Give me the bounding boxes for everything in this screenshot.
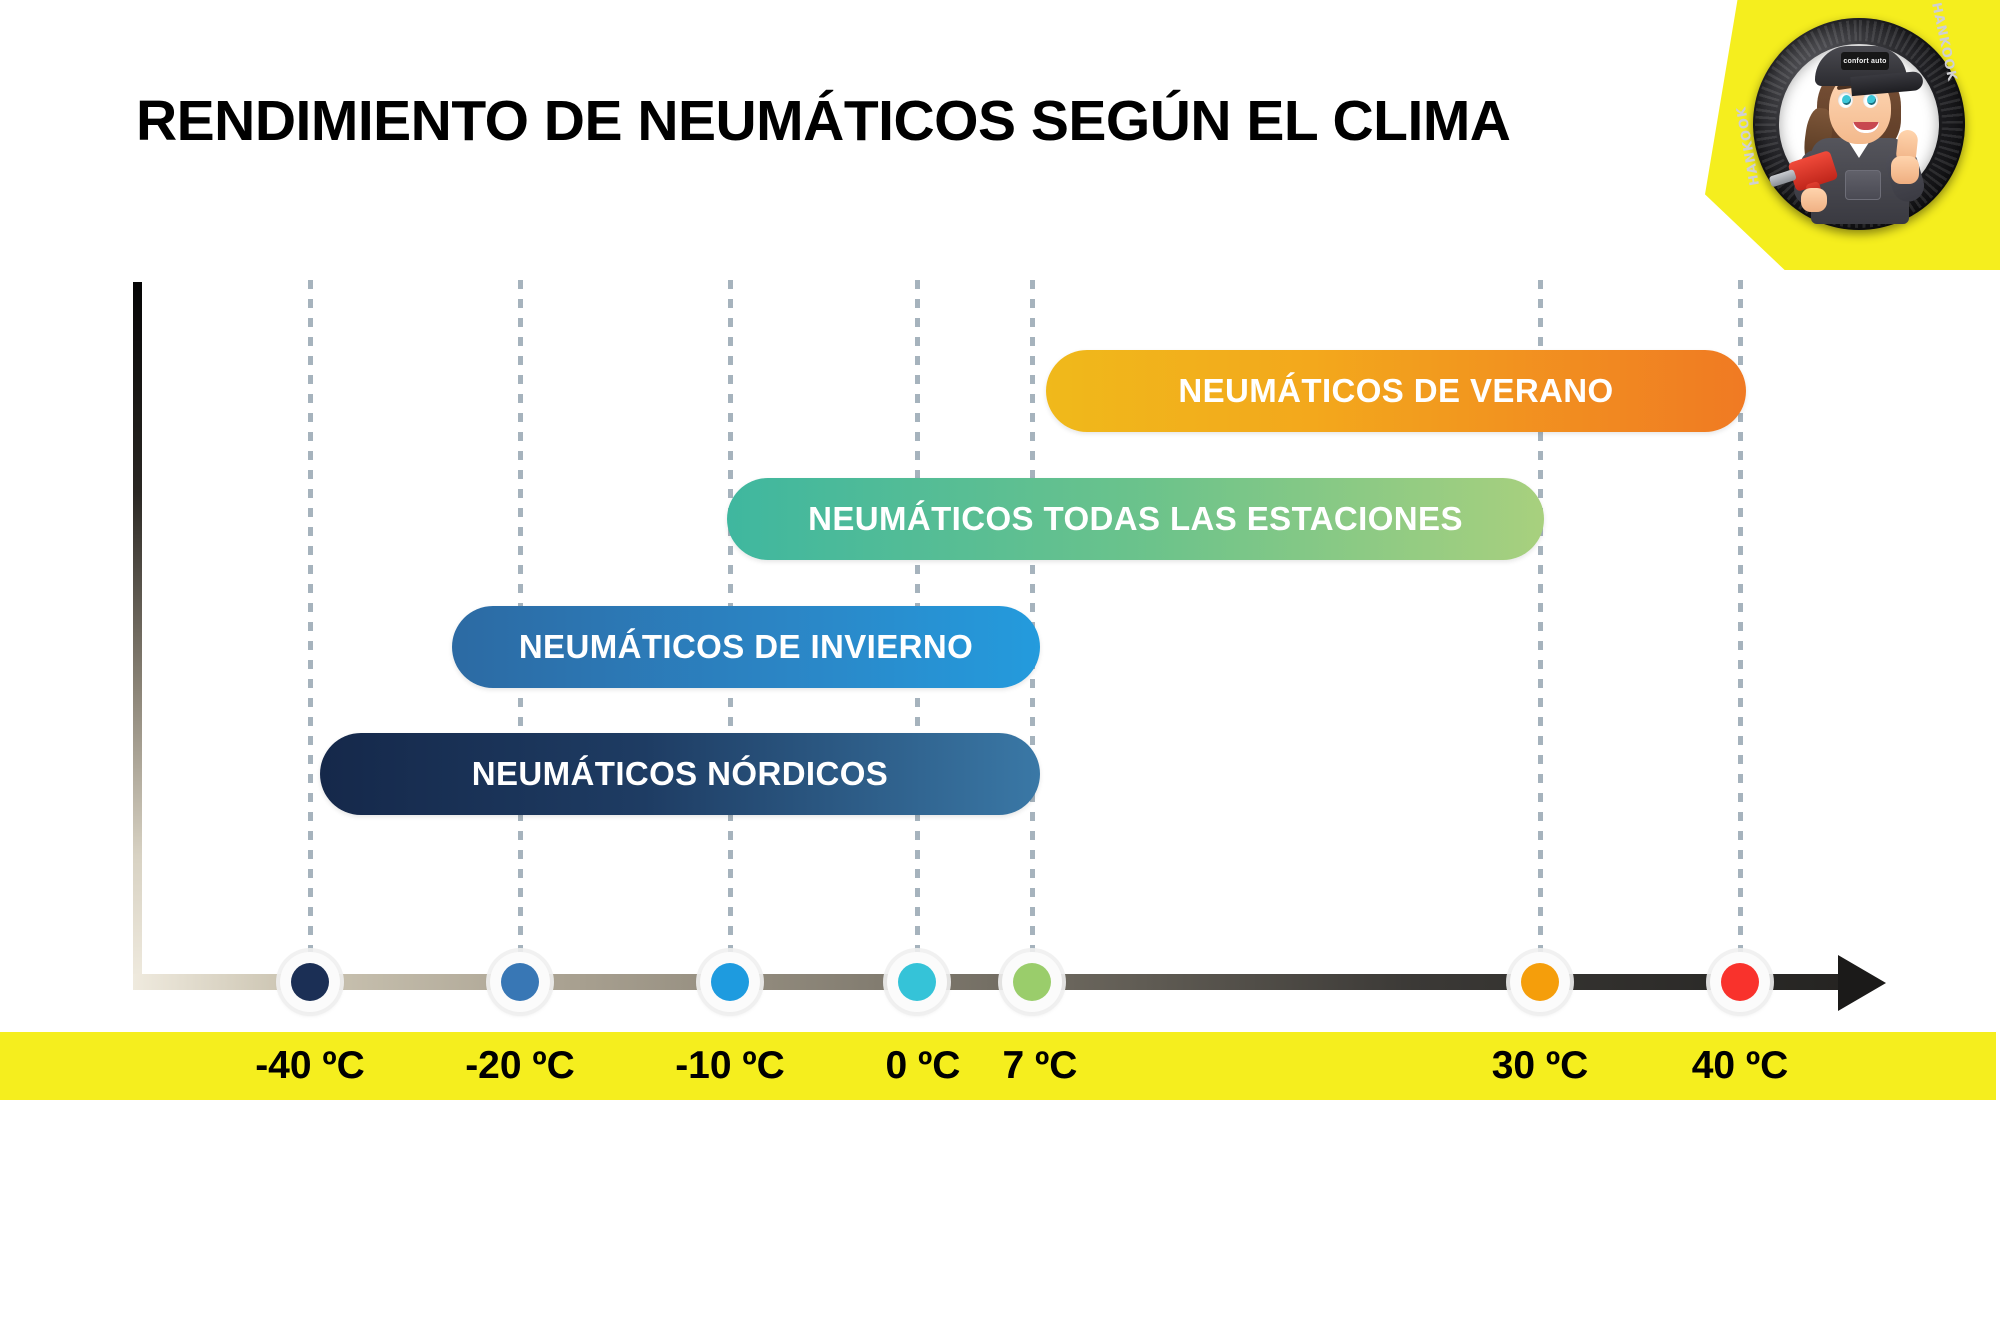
bar-winter-label: NEUMÁTICOS DE INVIERNO	[452, 628, 1040, 666]
axis-dot-thirty[interactable]	[1510, 952, 1570, 1012]
tick-label-zero: 0 ºC	[886, 1038, 961, 1094]
infographic-canvas: RENDIMIENTO DE NEUMÁTICOS SEGÚN EL CLIMA…	[0, 0, 2000, 1333]
x-axis-line	[133, 974, 1863, 990]
tick-label-forty: 40 ºC	[1692, 1038, 1789, 1094]
axis-dot-forty-fill	[1721, 963, 1759, 1001]
right-hand	[1891, 156, 1919, 184]
x-axis-arrow-icon	[1838, 955, 1886, 1011]
tick-label-thirty: 30 ºC	[1492, 1038, 1589, 1094]
cap-logo-badge: confort auto	[1841, 52, 1889, 70]
bar-nordic-label: NEUMÁTICOS NÓRDICOS	[320, 755, 1040, 793]
y-axis-line	[133, 282, 142, 982]
bar-allseason-label: NEUMÁTICOS TODAS LAS ESTACIONES	[727, 500, 1544, 538]
page-title: RENDIMIENTO DE NEUMÁTICOS SEGÚN EL CLIMA	[136, 88, 1510, 154]
axis-dot-minus10[interactable]	[700, 952, 760, 1012]
bar-summer-tires[interactable]: NEUMÁTICOS DE VERANO	[1046, 350, 1746, 432]
axis-dot-thirty-fill	[1521, 963, 1559, 1001]
axis-dot-minus40[interactable]	[280, 952, 340, 1012]
tick-label-minus10: -10 ºC	[675, 1038, 785, 1094]
tick-label-seven: 7 ºC	[1003, 1038, 1078, 1094]
axis-dot-minus40-fill	[291, 963, 329, 1001]
axis-dot-minus20[interactable]	[490, 952, 550, 1012]
eye-left	[1838, 92, 1853, 108]
axis-dot-minus20-fill	[501, 963, 539, 1001]
axis-dot-zero[interactable]	[887, 952, 947, 1012]
bar-winter-tires[interactable]: NEUMÁTICOS DE INVIERNO	[452, 606, 1040, 688]
axis-dot-seven-fill	[1013, 963, 1051, 1001]
axis-dot-seven[interactable]	[1002, 952, 1062, 1012]
axis-dot-forty[interactable]	[1710, 952, 1770, 1012]
axis-dot-minus10-fill	[711, 963, 749, 1001]
tick-label-minus20: -20 ºC	[465, 1038, 575, 1094]
left-hand	[1801, 188, 1827, 212]
bar-nordic-tires[interactable]: NEUMÁTICOS NÓRDICOS	[320, 733, 1040, 815]
tick-label-minus40: -40 ºC	[255, 1038, 365, 1094]
mechanic-character: confort auto	[1793, 30, 1925, 220]
gridline-minus40	[308, 280, 313, 968]
bar-allseason-tires[interactable]: NEUMÁTICOS TODAS LAS ESTACIONES	[727, 478, 1544, 560]
cap-logo-text: confort auto	[1843, 58, 1886, 65]
brand-logo: HANKOOK HANKOOK confort auto	[1705, 0, 2000, 270]
axis-dot-zero-fill	[898, 963, 936, 1001]
bar-summer-label: NEUMÁTICOS DE VERANO	[1046, 372, 1746, 410]
suit-pocket	[1845, 170, 1881, 200]
